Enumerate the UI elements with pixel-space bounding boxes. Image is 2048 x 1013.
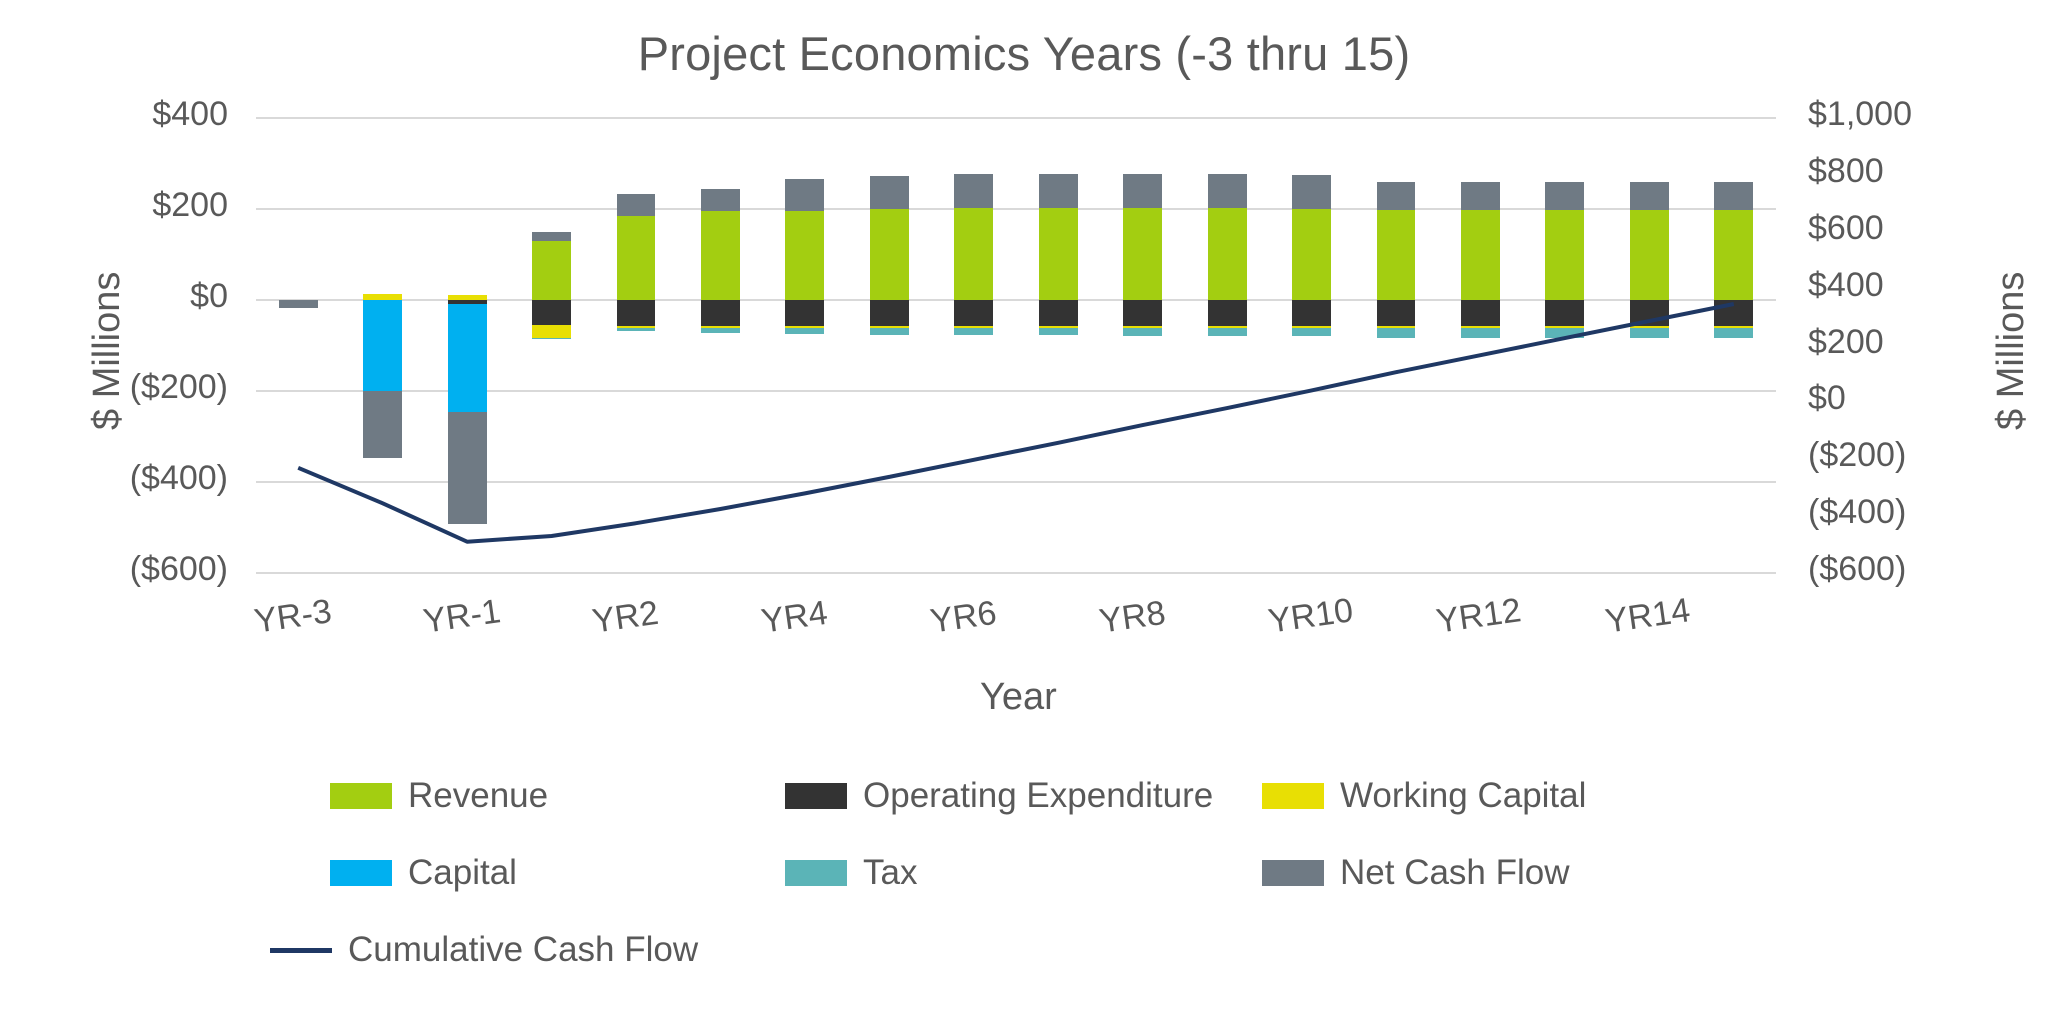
bar-segment-revenue	[1292, 209, 1331, 300]
chart-root: Project Economics Years (-3 thru 15) $ M…	[0, 0, 2048, 1013]
legend-label-cumulative-cash-flow: Cumulative Cash Flow	[348, 930, 698, 970]
bar-segment-net-cash-flow	[1039, 174, 1078, 208]
bar-segment-operating-expenditure	[1208, 300, 1247, 326]
bar-segment-working-capital	[532, 325, 571, 338]
bar-segment-revenue	[1714, 210, 1753, 300]
bar-group[interactable]	[448, 118, 487, 573]
bar-segment-operating-expenditure	[617, 300, 656, 326]
bar-segment-tax	[1714, 328, 1753, 338]
y-axis-right-tick-label: $400	[1808, 266, 1884, 305]
bar-segment-capital	[448, 304, 487, 412]
legend-label-revenue: Revenue	[408, 776, 548, 816]
x-axis-title: Year	[980, 676, 1057, 719]
bar-segment-revenue	[1123, 208, 1162, 300]
bar-group[interactable]	[617, 118, 656, 573]
bar-segment-net-cash-flow	[1714, 182, 1753, 210]
legend-item-revenue[interactable]: Revenue	[330, 776, 548, 816]
bar-group[interactable]	[954, 118, 993, 573]
bar-segment-operating-expenditure	[1545, 300, 1584, 326]
bar-segment-revenue	[532, 241, 571, 300]
bar-group[interactable]	[532, 118, 571, 573]
legend-label-net-cash-flow: Net Cash Flow	[1340, 853, 1570, 893]
bar-segment-net-cash-flow	[363, 391, 402, 458]
bar-segment-tax	[1039, 328, 1078, 335]
legend-label-tax: Tax	[863, 853, 917, 893]
y-axis-title-right: $ Millions	[1990, 272, 2033, 430]
bar-group[interactable]	[1714, 118, 1753, 573]
legend-label-working-capital: Working Capital	[1340, 776, 1586, 816]
y-axis-left-tick-label: $200	[0, 186, 228, 225]
bar-segment-tax	[1461, 328, 1500, 338]
y-axis-right-tick-label: $600	[1808, 209, 1884, 248]
bar-segment-revenue	[1377, 210, 1416, 300]
y-axis-right-tick-label: $200	[1808, 323, 1884, 362]
bar-segment-operating-expenditure	[1292, 300, 1331, 326]
legend-label-operating-expenditure: Operating Expenditure	[863, 776, 1213, 816]
bar-group[interactable]	[870, 118, 909, 573]
y-axis-right-tick-label: $1,000	[1808, 95, 1912, 134]
bar-segment-operating-expenditure	[1630, 300, 1669, 326]
bar-segment-revenue	[1208, 208, 1247, 300]
plot-area	[256, 118, 1776, 573]
bar-group[interactable]	[1292, 118, 1331, 573]
x-axis-tick-label: YR2	[590, 594, 661, 642]
bar-segment-net-cash-flow	[532, 232, 571, 241]
bar-group[interactable]	[279, 118, 318, 573]
bar-segment-net-cash-flow	[1377, 182, 1416, 210]
legend-label-capital: Capital	[408, 853, 517, 893]
bar-group[interactable]	[1545, 118, 1584, 573]
bar-segment-net-cash-flow	[870, 176, 909, 209]
legend-row-1: Revenue Operating Expenditure Working Ca…	[330, 776, 1670, 833]
bar-group[interactable]	[1208, 118, 1247, 573]
bar-segment-revenue	[617, 216, 656, 300]
bar-segment-operating-expenditure	[1461, 300, 1500, 326]
y-axis-left-tick-label: ($600)	[0, 550, 228, 589]
bar-segment-tax	[870, 328, 909, 335]
bar-segment-operating-expenditure	[1123, 300, 1162, 326]
bar-segment-operating-expenditure	[954, 300, 993, 326]
y-axis-right-tick-label: $800	[1808, 152, 1884, 191]
x-axis-tick-label: YR-1	[421, 592, 503, 641]
bar-segment-tax	[617, 328, 656, 332]
x-axis-tick-label: YR12	[1434, 591, 1524, 641]
bar-segment-tax	[1208, 328, 1247, 336]
bar-segment-revenue	[1545, 210, 1584, 300]
bar-segment-net-cash-flow	[1208, 174, 1247, 208]
bar-segment-tax	[1545, 328, 1584, 338]
x-axis-tick-label: YR8	[1097, 594, 1168, 642]
legend-item-capital[interactable]: Capital	[330, 853, 517, 893]
legend-swatch-revenue	[330, 783, 392, 809]
bar-segment-net-cash-flow	[1292, 175, 1331, 209]
bar-group[interactable]	[1123, 118, 1162, 573]
bar-segment-tax	[1123, 328, 1162, 336]
bar-group[interactable]	[1630, 118, 1669, 573]
bar-segment-net-cash-flow	[701, 189, 740, 212]
y-axis-left-tick-label: $0	[0, 277, 228, 316]
bar-segment-tax	[954, 328, 993, 335]
y-axis-right-tick-label: ($200)	[1808, 436, 1906, 475]
bar-group[interactable]	[1039, 118, 1078, 573]
bar-segment-net-cash-flow	[448, 412, 487, 524]
bar-segment-tax	[1292, 328, 1331, 336]
bar-segment-revenue	[1461, 210, 1500, 300]
bar-segment-tax	[701, 328, 740, 333]
bar-segment-tax	[1630, 328, 1669, 338]
page-title: Project Economics Years (-3 thru 15)	[0, 26, 2048, 81]
legend-swatch-working-capital	[1262, 783, 1324, 809]
legend-item-net-cash-flow[interactable]: Net Cash Flow	[1262, 853, 1570, 893]
y-axis-left-tick-label: ($400)	[0, 459, 228, 498]
bar-segment-tax	[785, 328, 824, 334]
bars-layer	[256, 118, 1776, 573]
x-axis-tick-label: YR14	[1603, 591, 1693, 641]
y-axis-right-tick-label: $0	[1808, 379, 1846, 418]
bar-segment-net-cash-flow	[1630, 182, 1669, 210]
y-axis-left-tick-label: $400	[0, 95, 228, 134]
x-axis-tick-label: YR6	[928, 594, 999, 642]
bar-segment-net-cash-flow	[1545, 182, 1584, 210]
legend-swatch-net-cash-flow	[1262, 860, 1324, 886]
legend-row-3: Cumulative Cash Flow	[330, 930, 1670, 987]
x-axis-tick-label: YR4	[759, 594, 830, 642]
legend-item-operating-expenditure[interactable]: Operating Expenditure	[785, 776, 1213, 816]
bar-segment-net-cash-flow	[785, 179, 824, 212]
legend-item-working-capital[interactable]: Working Capital	[1262, 776, 1586, 816]
x-axis-tick-label: YR10	[1266, 591, 1356, 641]
legend-row-2: Capital Tax Net Cash Flow	[330, 853, 1670, 910]
bar-segment-net-cash-flow	[1123, 174, 1162, 208]
bar-segment-operating-expenditure	[1714, 300, 1753, 326]
legend-swatch-cumulative-cash-flow	[270, 948, 332, 953]
bar-segment-operating-expenditure	[1377, 300, 1416, 326]
y-axis-right-tick-label: ($400)	[1808, 493, 1906, 532]
bar-segment-revenue	[870, 209, 909, 300]
bar-group[interactable]	[363, 118, 402, 573]
bar-segment-operating-expenditure	[785, 300, 824, 326]
bar-group[interactable]	[1377, 118, 1416, 573]
bar-group[interactable]	[701, 118, 740, 573]
legend-swatch-capital	[330, 860, 392, 886]
bar-segment-operating-expenditure	[532, 300, 571, 325]
bar-group[interactable]	[785, 118, 824, 573]
bar-segment-net-cash-flow	[617, 194, 656, 216]
legend: Revenue Operating Expenditure Working Ca…	[330, 776, 1670, 987]
bar-segment-operating-expenditure	[870, 300, 909, 326]
legend-swatch-operating-expenditure	[785, 783, 847, 809]
legend-item-cumulative-cash-flow[interactable]: Cumulative Cash Flow	[270, 930, 698, 970]
bar-segment-net-cash-flow	[1461, 182, 1500, 210]
bar-segment-revenue	[785, 211, 824, 300]
bar-segment-revenue	[954, 208, 993, 300]
bar-group[interactable]	[1461, 118, 1500, 573]
bar-segment-capital	[363, 300, 402, 391]
y-axis-right-tick-label: ($600)	[1808, 550, 1906, 589]
bar-segment-operating-expenditure	[701, 300, 740, 326]
bar-segment-revenue	[1039, 208, 1078, 300]
y-axis-left-tick-label: ($200)	[0, 368, 228, 407]
bar-segment-tax	[1377, 328, 1416, 338]
x-axis-tick-label: YR-3	[252, 592, 334, 641]
bar-segment-operating-expenditure	[1039, 300, 1078, 326]
bar-segment-tax	[532, 338, 571, 339]
bar-segment-revenue	[1630, 210, 1669, 300]
legend-item-tax[interactable]: Tax	[785, 853, 917, 893]
bar-segment-net-cash-flow	[279, 300, 318, 308]
bar-segment-net-cash-flow	[954, 174, 993, 208]
legend-swatch-tax	[785, 860, 847, 886]
bar-segment-revenue	[701, 211, 740, 300]
